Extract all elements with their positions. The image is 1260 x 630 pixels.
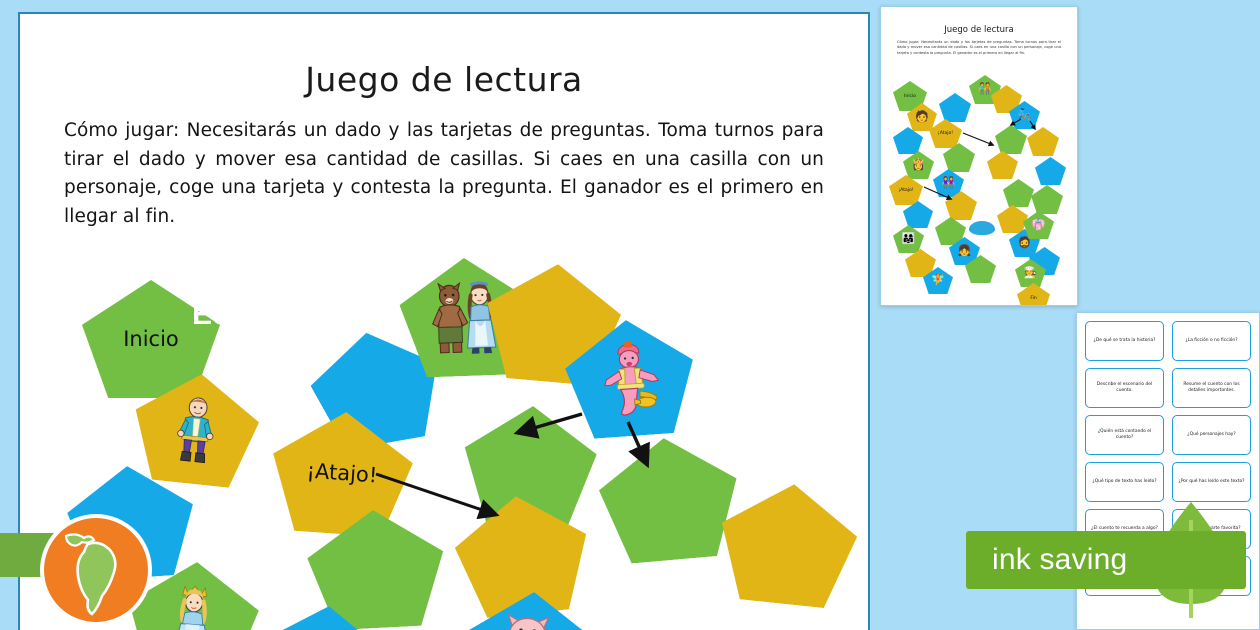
thumb-tile-label-inicio: Inicio	[904, 94, 916, 99]
thumb-tile-10	[939, 93, 971, 122]
thumb-tile-atajo-1: ¡Atajo!	[929, 119, 962, 148]
ink-saving-label: ink saving	[992, 543, 1127, 577]
screenshot-root: Juego de lectura Cómo jugar: Necesitarás…	[0, 0, 1260, 630]
thumb-tile-atajo-2: ¡Atajo!	[889, 175, 923, 205]
question-card: ¿Por qué has leído este texto?	[1172, 462, 1251, 502]
thumb-tile-3	[893, 127, 923, 154]
thumb-tile-26	[1003, 179, 1034, 207]
thumb-tile-22	[987, 151, 1018, 179]
thumb-tile-6	[903, 201, 933, 228]
question-card: ¿Qué personajes hay?	[1172, 415, 1251, 455]
board-tile-15[interactable]	[595, 432, 743, 566]
thumbnail-title: Juego de lectura	[887, 25, 1071, 35]
question-card: Resume el cuento con los detalles import…	[1172, 368, 1251, 408]
thumb-tile-29: 👘	[1023, 211, 1054, 239]
thumb-tile-label-fin: Fin	[1030, 296, 1036, 301]
thumb-tile-25	[1031, 185, 1063, 214]
question-card: ¿De qué se trata la historia?	[1085, 321, 1164, 361]
south-america-globe-icon	[36, 510, 156, 630]
thumb-tile-23	[1027, 127, 1059, 156]
thumb-tile-4: 👸	[903, 151, 934, 179]
thumbnail-board: Inicio 🧑 👸 ¡Atajo! 👨‍👩‍👧 🧚 ¡Atajo!	[887, 75, 1073, 306]
question-card: ¿Qué tipo de texto has leído?	[1085, 462, 1164, 502]
princess-character-icon	[148, 579, 239, 630]
board-tile-label-inicio: Inicio	[123, 327, 179, 351]
question-card: ¿La ficción o no ficción?	[1172, 321, 1251, 361]
publisher-logo	[969, 221, 995, 235]
thumb-tile-27	[997, 205, 1028, 233]
question-card: ¿Quién está contando el cuento?	[1085, 415, 1164, 455]
thumbnail-instructions: Cómo jugar: Necesitarás un dado y las ta…	[897, 40, 1061, 56]
page-thumbnail-preview[interactable]: Juego de lectura Cómo jugar: Necesitarás…	[880, 6, 1078, 306]
board-tile-label-atajo: ¡Atajo!	[306, 459, 378, 488]
ink-saving-banner: ink saving	[966, 531, 1246, 589]
prince-character-icon	[152, 389, 241, 470]
eco-label: Eco	[192, 298, 247, 332]
question-card: Describe el escenario del cuento.	[1085, 368, 1164, 408]
thumb-tile-21	[995, 125, 1027, 154]
thumb-tile-7: 👨‍👩‍👧	[893, 225, 924, 253]
thumb-tile-24	[1035, 157, 1066, 185]
genie-character-icon	[585, 337, 675, 419]
thumb-tile-label-atajo-2: ¡Atajo!	[898, 188, 913, 193]
thumb-tile-label-atajo-1: ¡Atajo!	[938, 131, 953, 136]
board-tile-17[interactable]	[714, 477, 862, 611]
